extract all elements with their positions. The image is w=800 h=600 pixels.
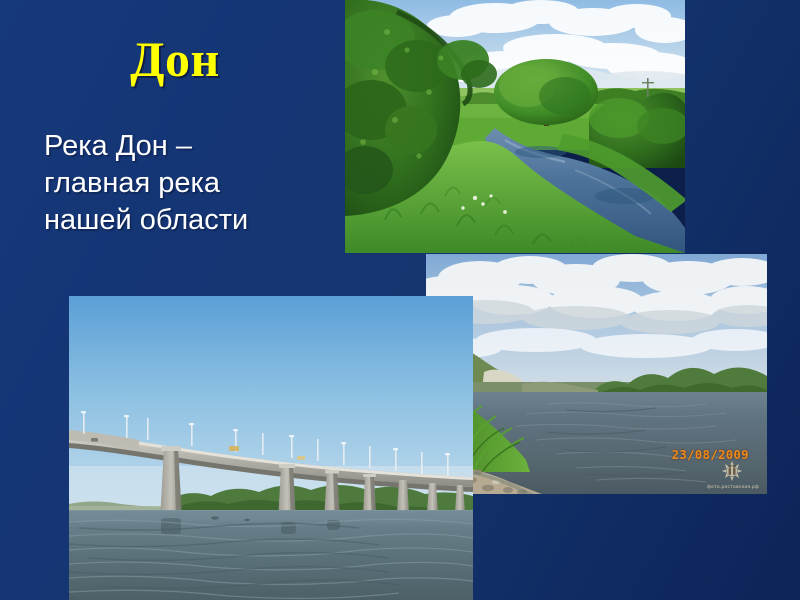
bridge-illustration [69, 296, 473, 600]
bridge-over-river-photo [69, 296, 473, 600]
presentation-slide: Дон Река Дон – главная река нашей област… [0, 0, 800, 600]
wide-river-photo: 23/08/2009 фото.ростовская.рф [426, 254, 767, 494]
river-meadow-illustration [345, 0, 685, 253]
slide-body-text: Река Дон – главная река нашей области [44, 128, 306, 239]
slide-title: Дон [40, 33, 310, 86]
watermark-label: фото.ростовская.рф [707, 485, 759, 490]
river-meadow-photo [345, 0, 685, 253]
watermark-icon [709, 460, 755, 486]
